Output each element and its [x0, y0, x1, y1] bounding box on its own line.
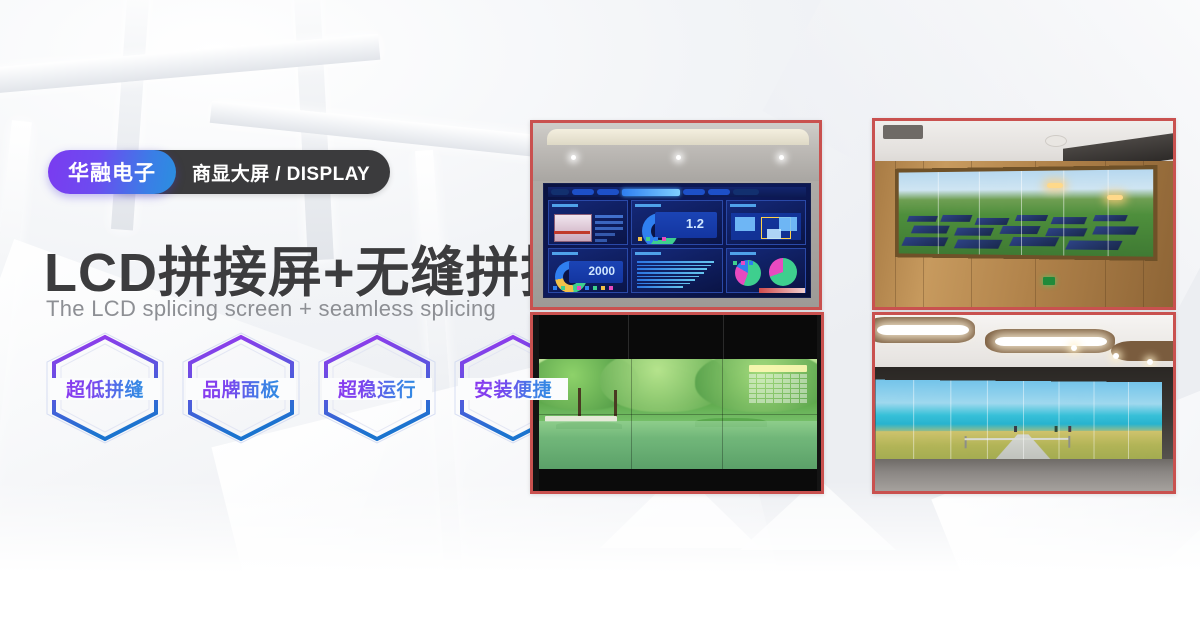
- gallery-photo-top-right[interactable]: [872, 118, 1176, 310]
- dashboard-card: [726, 200, 806, 245]
- video-wall-screen: [539, 359, 817, 469]
- chart-legend: [733, 261, 803, 265]
- dashboard-card: 1.2: [631, 200, 723, 245]
- calendar-overlay: [749, 365, 807, 417]
- dashboard-card: [548, 200, 628, 245]
- wall-lamp: [1047, 183, 1063, 188]
- bar-chart: [637, 261, 717, 288]
- brand-pill: 华融电子 商显大屏 / DISPLAY: [48, 150, 390, 194]
- ceiling-vent: [883, 125, 923, 139]
- video-wall-bezel-bottom: [533, 469, 821, 491]
- dashboard-tab: [683, 189, 705, 195]
- water-reflection: [539, 421, 817, 469]
- gallery-photo-top-left[interactable]: 1.2: [530, 120, 822, 310]
- video-wall-screen: [899, 169, 1153, 256]
- dashboard-tab: [597, 189, 619, 195]
- video-wall-bezel-top: [533, 315, 821, 359]
- banner-stage: 华融电子 商显大屏 / DISPLAY LCD拼接屏+无缝拼接 The LCD …: [0, 0, 1200, 640]
- kpi-value: 1.2: [686, 216, 704, 231]
- feature-item-2: 超稳运行: [318, 332, 436, 444]
- feature-list: 超低拼缝 品牌面板: [46, 332, 572, 444]
- photo-content: [875, 121, 1173, 307]
- ceiling-light-strip: [995, 337, 1107, 346]
- feature-label: 安装便捷: [472, 375, 554, 402]
- ceiling-fixture: [1045, 135, 1067, 147]
- chart-legend: [553, 286, 628, 290]
- dashboard-timestamp: [551, 189, 569, 195]
- ceiling-light: [779, 155, 784, 160]
- gallery-photo-bottom-left[interactable]: [530, 312, 824, 494]
- video-wall-screen: 1.2: [543, 183, 811, 298]
- ceiling-light: [1071, 345, 1077, 351]
- chart-legend: [638, 237, 723, 241]
- photo-content: 1.2: [533, 123, 819, 307]
- photo-content: [533, 315, 821, 491]
- ceiling-cove: [547, 129, 809, 145]
- feature-label: 超低拼缝: [64, 375, 146, 402]
- ceiling-light: [676, 155, 681, 160]
- dashboard-tab: [572, 189, 594, 195]
- video-wall-frame: [895, 165, 1157, 261]
- feature-label: 超稳运行: [336, 375, 418, 402]
- ceiling-light-strip: [877, 325, 969, 335]
- dashboard-card: [631, 248, 723, 293]
- feature-item-1: 品牌面板: [182, 332, 300, 444]
- exit-sign: [1043, 277, 1055, 285]
- page-subtitle: The LCD splicing screen + seamless splic…: [46, 296, 496, 322]
- dashboard-card: 2000: [548, 248, 628, 293]
- ceiling: [533, 123, 819, 181]
- ceiling-pod: [1111, 341, 1176, 361]
- video-wall-screen: [875, 380, 1162, 469]
- dashboard-grid: 1.2: [548, 200, 806, 293]
- wall-lamp: [1107, 195, 1123, 200]
- kpi-value: 2000: [588, 264, 615, 278]
- photo-content: [875, 315, 1173, 491]
- dashboard-status: [733, 189, 759, 195]
- feature-item-0: 超低拼缝: [46, 332, 164, 444]
- feature-label: 品牌面板: [200, 375, 282, 402]
- ceiling-light: [571, 155, 576, 160]
- floor: [875, 459, 1173, 491]
- ceiling-light: [1147, 359, 1153, 365]
- dashboard-tab: [708, 189, 730, 195]
- dashboard-topbar: [548, 187, 806, 197]
- dashboard-title: [622, 189, 680, 196]
- ceiling-light: [1113, 353, 1119, 359]
- brand-name: 华融电子: [48, 150, 176, 194]
- dashboard-card: [726, 248, 806, 293]
- background-bottom-fade: [0, 480, 1200, 640]
- gallery-photo-bottom-right[interactable]: [872, 312, 1176, 494]
